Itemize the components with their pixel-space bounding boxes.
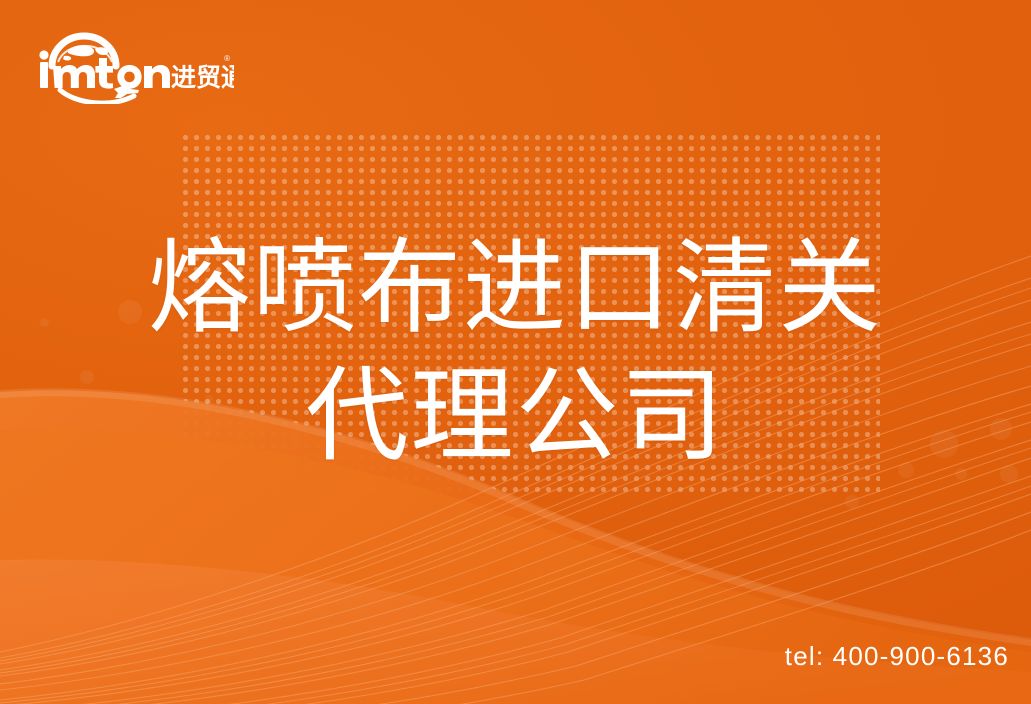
registered-mark: ® bbox=[224, 54, 230, 63]
headline-line-2: 代理公司 bbox=[0, 352, 1031, 480]
logo-wordmark-imton bbox=[39, 50, 170, 88]
logo-chinese-text: 进贸通 bbox=[171, 64, 234, 92]
headline-line-1: 熔喷布进口清关 bbox=[148, 230, 883, 345]
svg-text:进贸通: 进贸通 bbox=[171, 64, 234, 92]
brand-logo[interactable]: 进贸通 ® bbox=[34, 28, 234, 104]
page-title: 熔喷布进口清关 代理公司 bbox=[0, 224, 1031, 480]
logo-mark: 进贸通 ® bbox=[34, 28, 234, 104]
contact-phone[interactable]: tel: 400-900-6136 bbox=[785, 641, 1009, 672]
promotional-banner: 进贸通 ® 熔喷布进口清关 代理公司 tel: 400-900-6136 bbox=[0, 0, 1031, 704]
